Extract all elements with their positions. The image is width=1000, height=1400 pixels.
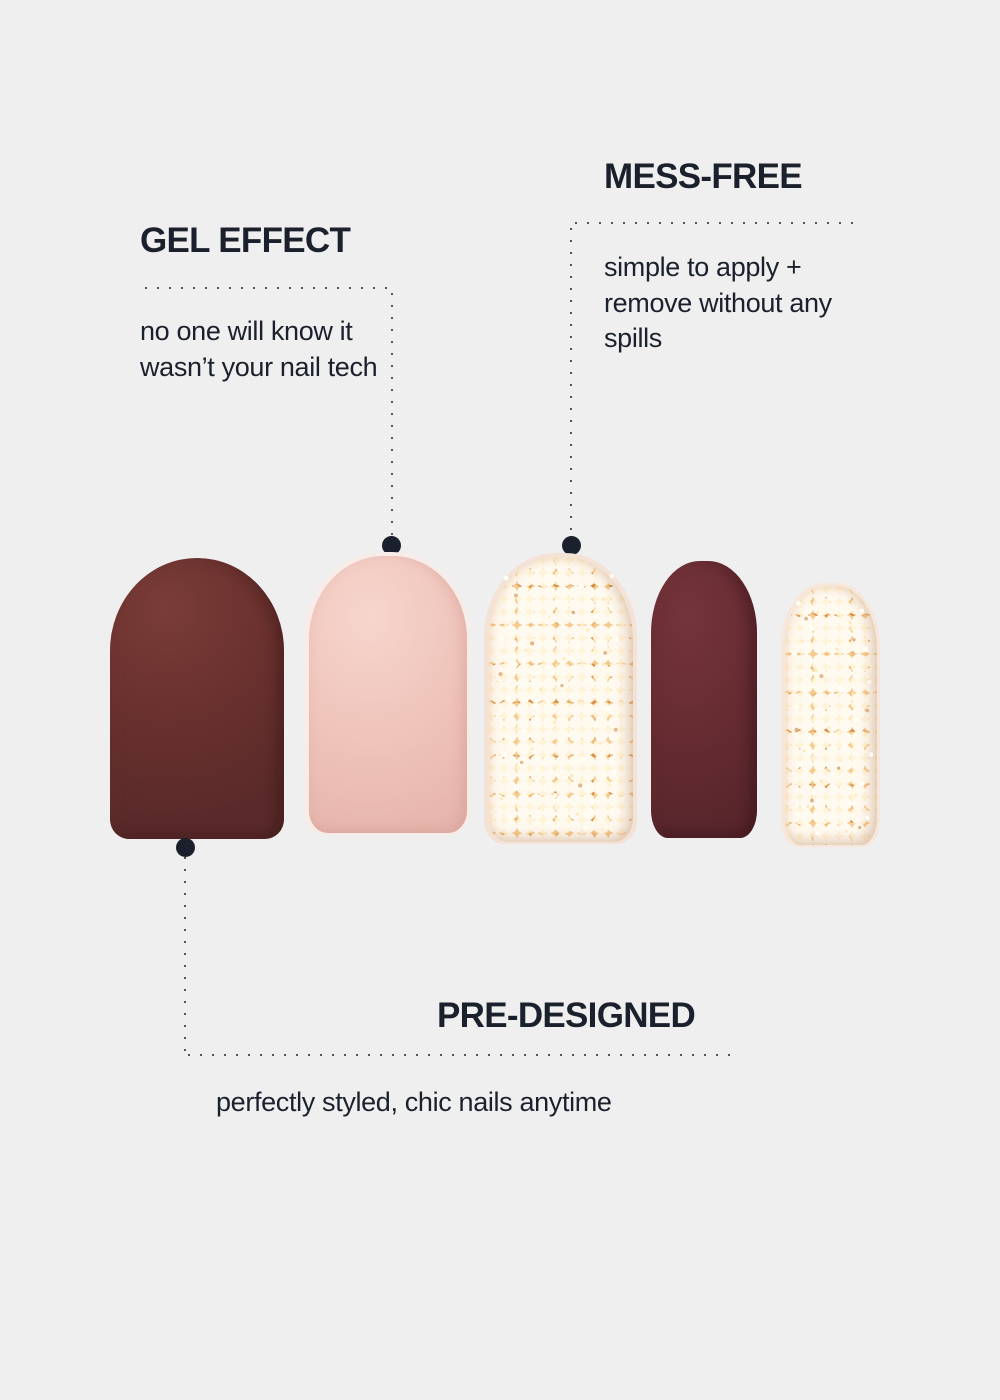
product-infographic: GEL EFFECT no one will know it wasn’t yo… [0,0,1000,1400]
nail-surface [110,558,284,839]
nail-surface [785,586,877,845]
nail-swatch-row [0,0,1000,1400]
feature-body-pre-designed: perfectly styled, chic nails anytime [216,1085,612,1121]
nail-swatch-orange-glitter-narrow [781,583,880,847]
nail-swatch-burgundy-narrow [651,561,757,838]
feature-title-pre-designed: PRE-DESIGNED [437,997,695,1035]
nail-surface [489,557,633,842]
pre-designed-connector-line [183,852,187,1055]
pre-designed-underline-dotted [183,1053,730,1057]
glitter-sparkle-overlay [489,557,633,835]
nail-swatch-soft-pink [304,552,470,835]
nail-swatch-burgundy-wide [110,558,284,839]
glitter-sparkle-overlay [785,586,877,837]
nail-swatch-orange-glitter-wide [484,553,637,844]
nail-surface [651,561,757,838]
nail-surface [309,556,467,833]
